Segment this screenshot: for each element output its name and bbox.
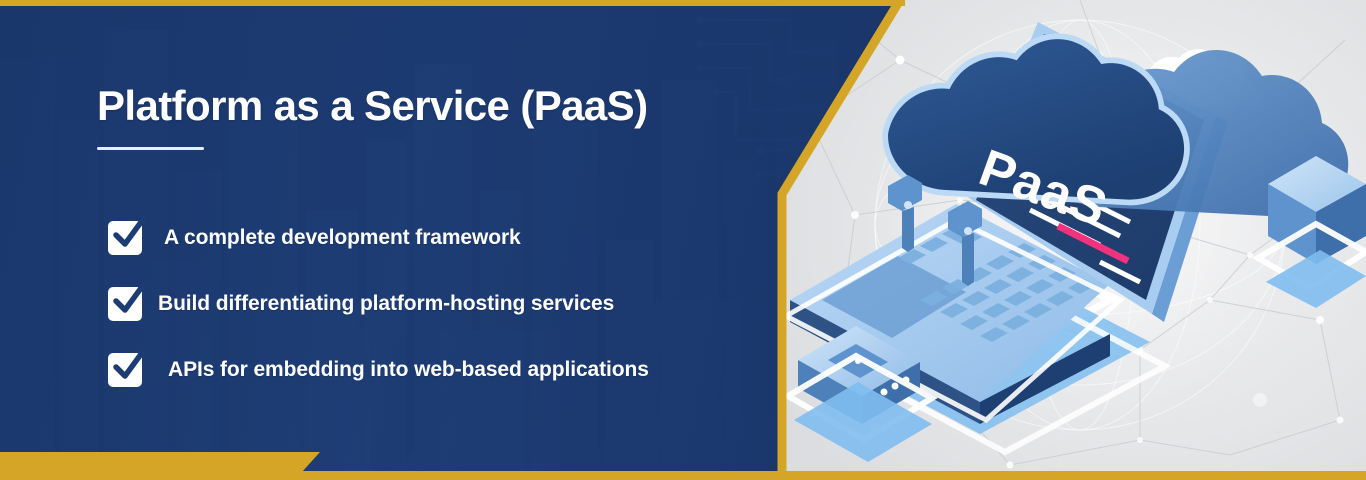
list-item-label: Build differentiating platform-hosting s… <box>158 292 614 316</box>
feature-list: A complete development framework Build d… <box>108 214 649 412</box>
paas-illustration: PaaS <box>780 0 1366 480</box>
illustration-panel: PaaS <box>780 0 1366 480</box>
paas-banner: PaaS <box>0 0 1366 480</box>
cube-isometric-icon <box>1258 156 1366 480</box>
list-item: A complete development framework <box>108 214 649 262</box>
list-item-label: APIs for embedding into web-based applic… <box>168 358 649 382</box>
list-item-label: A complete development framework <box>164 226 521 250</box>
bottom-gold-bar <box>0 452 320 472</box>
list-item: APIs for embedding into web-based applic… <box>108 346 649 394</box>
page-title: Platform as a Service (PaaS) <box>97 82 648 130</box>
top-gold-strip <box>0 0 905 6</box>
banner-content: Platform as a Service (PaaS) A complete … <box>0 0 782 480</box>
check-icon <box>108 353 142 387</box>
check-icon <box>108 287 142 321</box>
list-item: Build differentiating platform-hosting s… <box>108 280 649 328</box>
title-underline <box>97 147 204 150</box>
bottom-gold-strip <box>0 471 1366 480</box>
check-icon <box>108 221 142 255</box>
